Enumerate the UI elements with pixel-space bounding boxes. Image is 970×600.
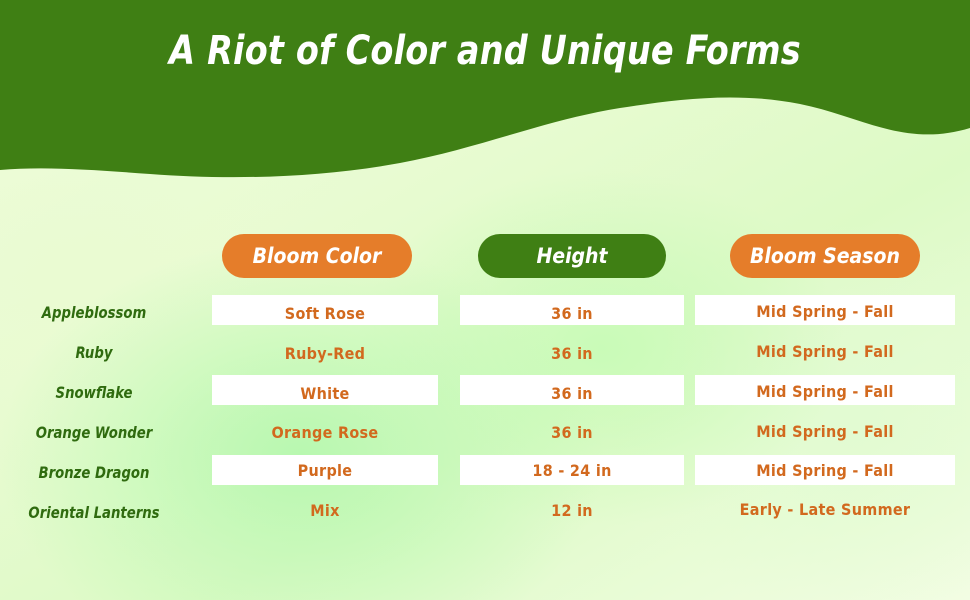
infographic-canvas: A Riot of Color and Unique Forms Bloom C… — [0, 0, 970, 600]
cell-bloom-season: Mid Spring - Fall — [695, 342, 955, 361]
cell-height: 36 in — [460, 344, 684, 363]
cell-height: 36 in — [460, 384, 684, 403]
row-label: Snowflake — [8, 383, 181, 402]
comparison-table: Bloom Color Height Bloom Season Appleblo… — [0, 0, 970, 600]
row-label: Orange Wonder — [8, 423, 181, 442]
column-header-bloom-color: Bloom Color — [222, 234, 412, 278]
cell-height: 36 in — [460, 304, 684, 323]
cell-bloom-season: Early - Late Summer — [695, 500, 955, 519]
column-header-label: Height — [536, 244, 607, 268]
column-header-height: Height — [478, 234, 666, 278]
cell-bloom-season: Mid Spring - Fall — [695, 302, 955, 321]
column-header-label: Bloom Color — [253, 244, 382, 268]
cell-bloom-color: Mix — [212, 501, 438, 520]
column-header-label: Bloom Season — [750, 244, 900, 268]
cell-bloom-color: Purple — [212, 461, 438, 480]
row-label: Oriental Lanterns — [8, 503, 181, 522]
cell-bloom-color: Soft Rose — [212, 304, 438, 323]
row-label: Ruby — [8, 343, 181, 362]
cell-height: 36 in — [460, 423, 684, 442]
cell-height: 18 - 24 in — [460, 461, 684, 480]
row-label: Appleblossom — [8, 303, 181, 322]
row-label: Bronze Dragon — [8, 463, 181, 482]
column-header-bloom-season: Bloom Season — [730, 234, 920, 278]
cell-bloom-color: Orange Rose — [212, 423, 438, 442]
cell-bloom-season: Mid Spring - Fall — [695, 422, 955, 441]
cell-bloom-season: Mid Spring - Fall — [695, 461, 955, 480]
cell-bloom-color: White — [212, 384, 438, 403]
cell-height: 12 in — [460, 501, 684, 520]
cell-bloom-season: Mid Spring - Fall — [695, 382, 955, 401]
cell-bloom-color: Ruby-Red — [212, 344, 438, 363]
